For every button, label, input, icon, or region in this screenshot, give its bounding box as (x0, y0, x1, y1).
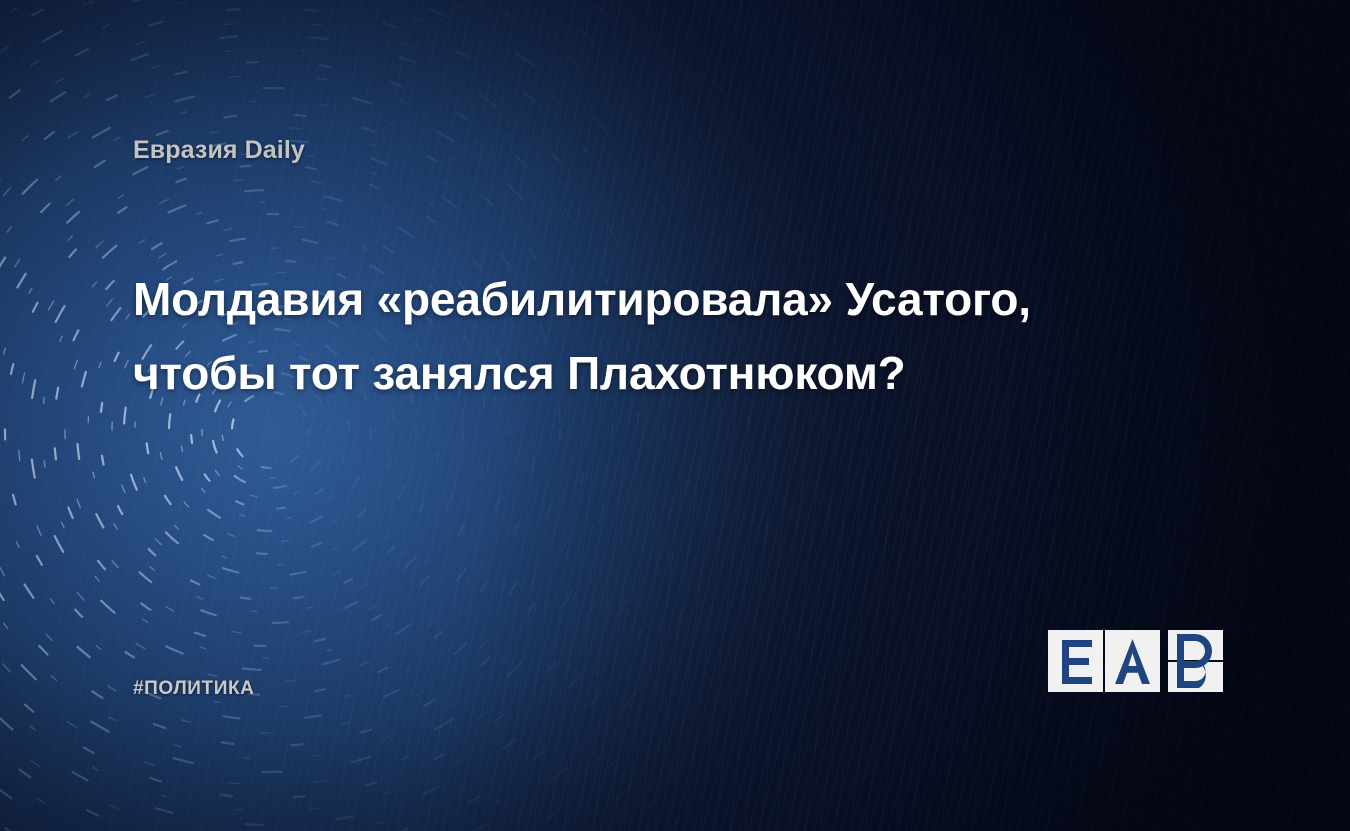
letter-e-icon (1048, 630, 1103, 692)
letter-d-bottom-icon (1174, 661, 1216, 693)
card-content: Евразия Daily Молдавия «реабилитировала»… (0, 0, 1350, 831)
letter-d-top-icon (1174, 629, 1216, 661)
headline-line-2: чтобы тот занялся Плахотнюком? (133, 336, 1223, 410)
brand-name: Евразия Daily (133, 136, 305, 165)
category-hashtag[interactable]: #ПОЛИТИКА (133, 678, 255, 700)
logo-tile-a (1105, 630, 1160, 692)
article-share-card: Евразия Daily Молдавия «реабилитировала»… (0, 0, 1350, 831)
eadaily-logo[interactable] (1048, 630, 1240, 694)
letter-a-icon (1105, 630, 1160, 692)
headline: Молдавия «реабилитировала» Усатого, чтоб… (133, 262, 1223, 410)
logo-tile-d-stack (1168, 630, 1223, 692)
logo-tile-e (1048, 630, 1103, 692)
headline-line-1: Молдавия «реабилитировала» Усатого, (133, 262, 1223, 336)
